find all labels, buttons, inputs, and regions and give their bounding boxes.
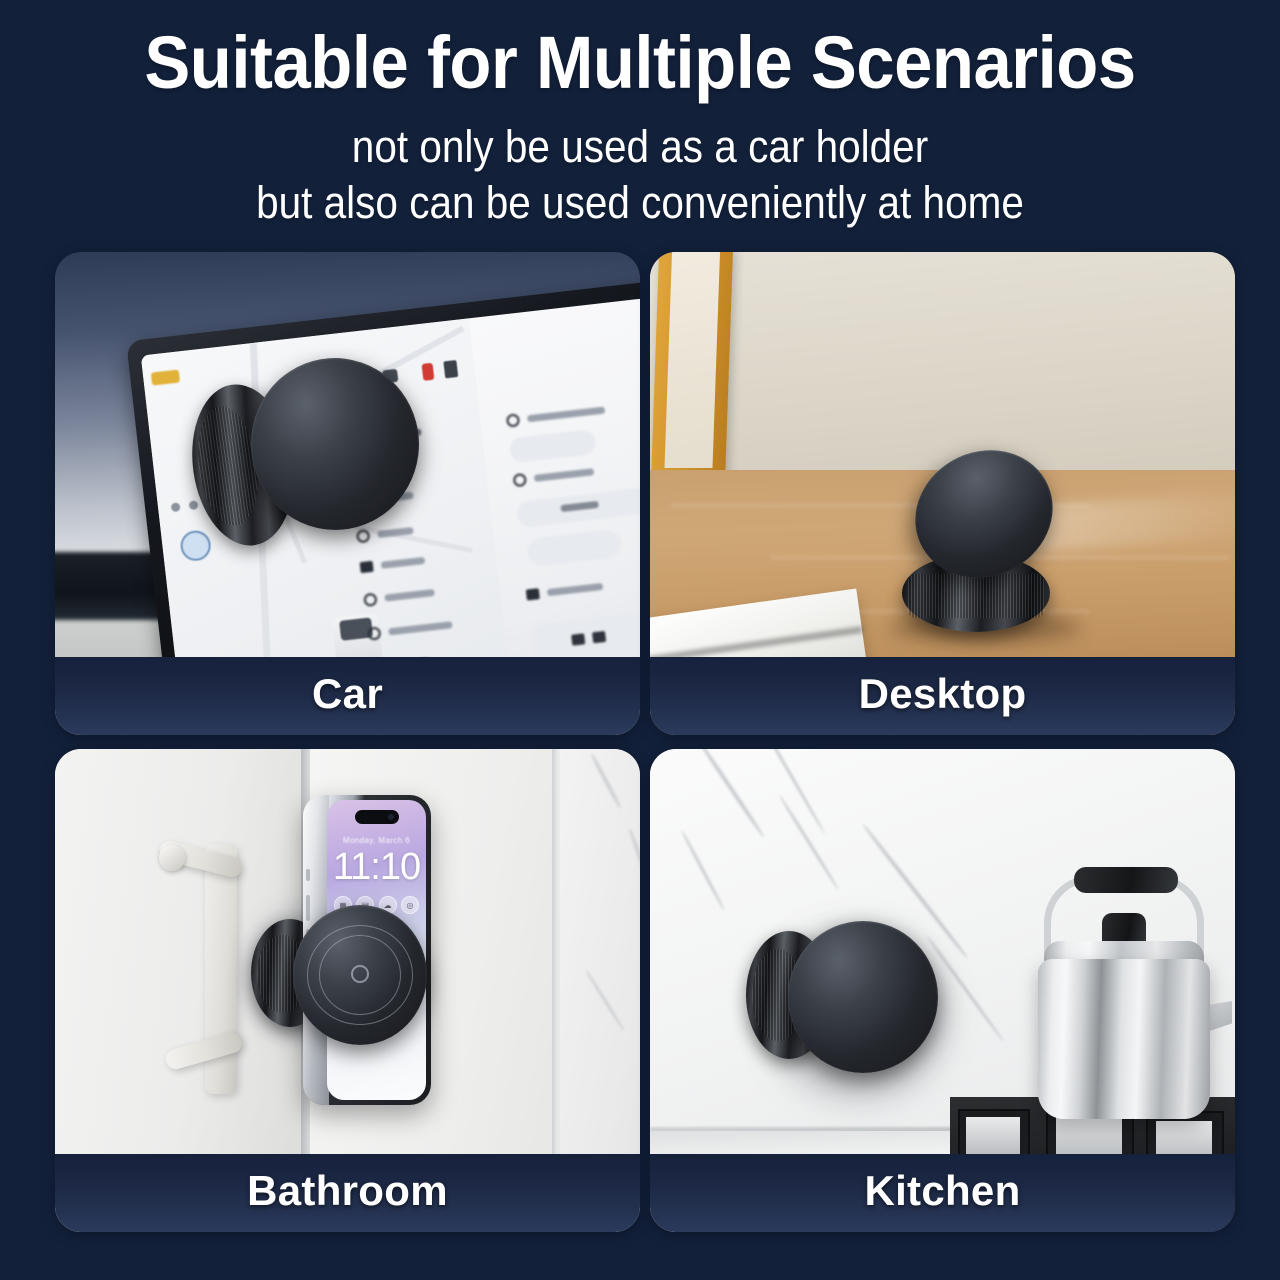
card-label-desktop: Desktop (859, 670, 1027, 718)
marble-vein (590, 754, 622, 809)
marble-vein (695, 749, 765, 838)
scenario-card-car[interactable]: Car (55, 252, 640, 735)
card-label-band-desktop: Desktop (650, 657, 1235, 735)
product-feature-page: Suitable for Multiple Scenarios not only… (0, 0, 1280, 1280)
steering-wheel-icon (179, 529, 212, 562)
kettle-grip (1074, 867, 1178, 893)
stove-grate-highlight (966, 1117, 1020, 1157)
marble-vein (681, 830, 726, 911)
marble-vein (748, 749, 826, 834)
page-title: Suitable for Multiple Scenarios (45, 26, 1235, 100)
scenario-card-bathroom[interactable]: Monday, March 6 11:10 ▦ ▤ ☁ ◎ (55, 749, 640, 1232)
panel-row[interactable] (526, 581, 604, 601)
picture-frame (651, 252, 733, 488)
marble-vein (585, 970, 625, 1031)
magnet-center-icon (351, 965, 369, 983)
mount-magnetic-face (788, 921, 938, 1073)
card-label-kitchen: Kitchen (864, 1167, 1020, 1215)
scenario-card-kitchen[interactable]: Kitchen (650, 749, 1235, 1232)
bathroom-scene-image: Monday, March 6 11:10 ▦ ▤ ☁ ◎ (55, 749, 640, 1232)
kettle (1030, 867, 1218, 1117)
warning-icon (151, 370, 180, 386)
brand-logo-icon (443, 360, 458, 378)
page-header: Suitable for Multiple Scenarios not only… (0, 0, 1280, 240)
status-dot-icon (171, 502, 181, 512)
panel-chip[interactable] (526, 529, 623, 567)
panel-row[interactable] (506, 404, 606, 428)
card-label-band-kitchen: Kitchen (650, 1154, 1235, 1232)
lock-screen-date: Monday, March 6 (327, 836, 426, 845)
kettle-body (1038, 959, 1210, 1119)
scenario-card-desktop[interactable]: Desktop (650, 252, 1235, 735)
desktop-scene-image: Desktop (650, 252, 1235, 735)
page-subtitle-line-2: but also can be used conveniently at hom… (64, 180, 1216, 225)
card-label-band-car: Car (55, 657, 640, 735)
volume-up-button[interactable] (306, 895, 310, 921)
status-dot-icon (189, 500, 199, 510)
clock-widget-icon[interactable]: ◎ (401, 896, 419, 914)
lock-screen-time: 11:10 (327, 848, 426, 886)
mute-switch-icon[interactable] (306, 869, 310, 881)
panel-row[interactable] (513, 465, 595, 487)
page-subtitle-line-1: not only be used as a car holder (64, 124, 1216, 169)
dynamic-island-icon (355, 810, 399, 824)
car-scene-image: Car (55, 252, 640, 735)
battery-icon (422, 363, 435, 381)
panel-chip[interactable] (509, 429, 597, 464)
marble-vein (628, 828, 640, 914)
card-label-car: Car (312, 670, 383, 718)
card-label-band-bathroom: Bathroom (55, 1154, 640, 1232)
door-handle-knob[interactable] (159, 845, 185, 871)
kitchen-scene-image: Kitchen (650, 749, 1235, 1232)
card-label-bathroom: Bathroom (247, 1167, 448, 1215)
desk-wall (650, 252, 1235, 484)
stove-grate-highlight (1056, 1113, 1122, 1159)
mount-knurled-ring (908, 574, 1044, 618)
scenario-grid: Car De (55, 252, 1235, 1232)
